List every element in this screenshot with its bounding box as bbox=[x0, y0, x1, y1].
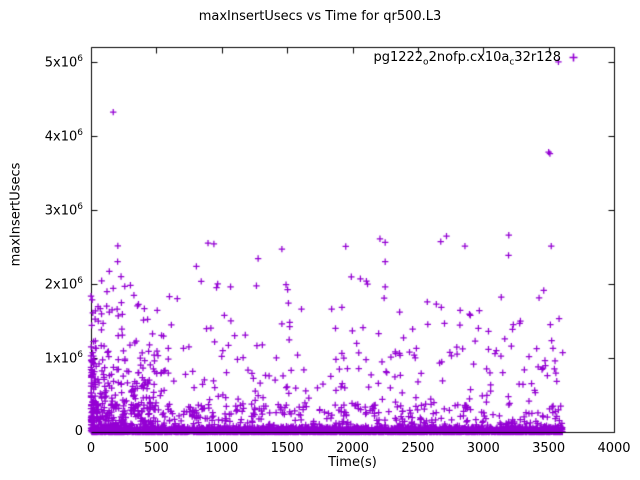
y-axis-tick-label: 3x106 bbox=[13, 203, 83, 217]
y-tick-mantissa: 2x10 bbox=[45, 277, 78, 292]
legend-label-part: 32r128 bbox=[514, 50, 561, 65]
y-tick-mantissa: 0 bbox=[75, 424, 83, 439]
y-axis-tick-label: 4x106 bbox=[13, 129, 83, 143]
y-axis-tick-label: 0 bbox=[13, 425, 83, 438]
chart-title: maxInsertUsecs vs Time for qr500.L3 bbox=[0, 10, 640, 23]
y-tick-mantissa: 4x10 bbox=[45, 129, 78, 144]
y-tick-mantissa: 1x10 bbox=[45, 351, 78, 366]
chart-page: maxInsertUsecs vs Time for qr500.L3 pg12… bbox=[0, 0, 640, 480]
y-axis-tick-label: 5x106 bbox=[13, 55, 83, 69]
x-axis-tick-label: 4000 bbox=[574, 442, 640, 455]
y-tick-mantissa: 3x10 bbox=[45, 203, 78, 218]
y-tick-exponent: 6 bbox=[77, 350, 83, 360]
y-tick-exponent: 6 bbox=[77, 54, 83, 64]
y-tick-exponent: 6 bbox=[77, 202, 83, 212]
legend-label-part: pg1222 bbox=[373, 50, 423, 65]
y-axis-tick-label: 1x106 bbox=[13, 351, 83, 365]
legend-entry-label: pg1222o2nofp.cx10ac32r128 bbox=[0, 51, 561, 68]
y-axis-tick-label: 2x106 bbox=[13, 277, 83, 291]
x-axis-title: Time(s) bbox=[91, 456, 614, 469]
y-tick-mantissa: 5x10 bbox=[45, 55, 78, 70]
y-tick-exponent: 6 bbox=[77, 128, 83, 138]
scatter-plot-canvas bbox=[0, 0, 640, 480]
y-tick-exponent: 6 bbox=[77, 276, 83, 286]
legend-label-part: 2nofp.cx10a bbox=[429, 50, 510, 65]
